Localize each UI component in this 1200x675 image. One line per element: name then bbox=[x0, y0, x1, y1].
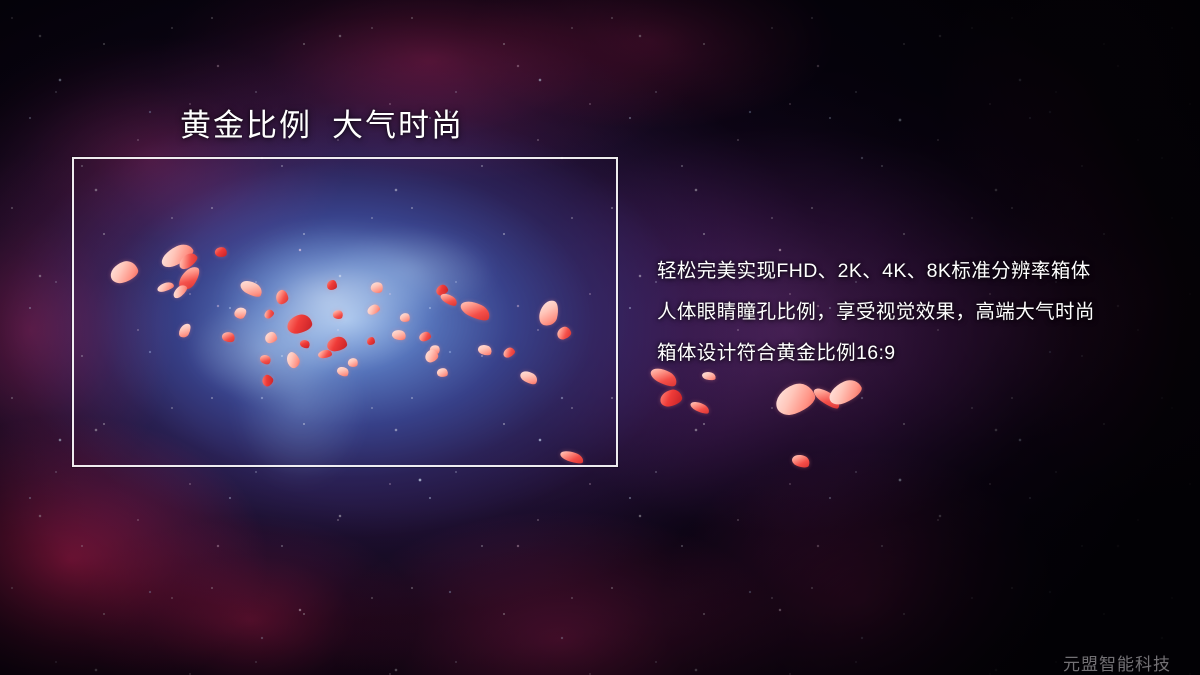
body-line-1: 轻松完美实现FHD、2K、4K、8K标准分辨率箱体 bbox=[657, 251, 1157, 292]
page-title: 黄金比例大气时尚 bbox=[180, 100, 464, 145]
title-part-2: 大气时尚 bbox=[332, 108, 464, 143]
body-line-3: 箱体设计符合黄金比例16:9 bbox=[657, 333, 1157, 374]
title-part-1: 黄金比例 bbox=[180, 108, 312, 143]
body-text-block: 轻松完美实现FHD、2K、4K、8K标准分辨率箱体 人体眼睛瞳孔比例，享受视觉效… bbox=[657, 251, 1157, 374]
display-preview-frame[interactable] bbox=[72, 157, 618, 467]
watermark: 元盟智能科技 bbox=[1063, 650, 1171, 675]
presentation-slide: 黄金比例大气时尚 轻松完美实现FHD、2K、4K、8K标准分辨率箱体 人体眼睛瞳… bbox=[0, 0, 1200, 675]
body-line-2: 人体眼睛瞳孔比例，享受视觉效果，高端大气时尚 bbox=[657, 292, 1157, 333]
